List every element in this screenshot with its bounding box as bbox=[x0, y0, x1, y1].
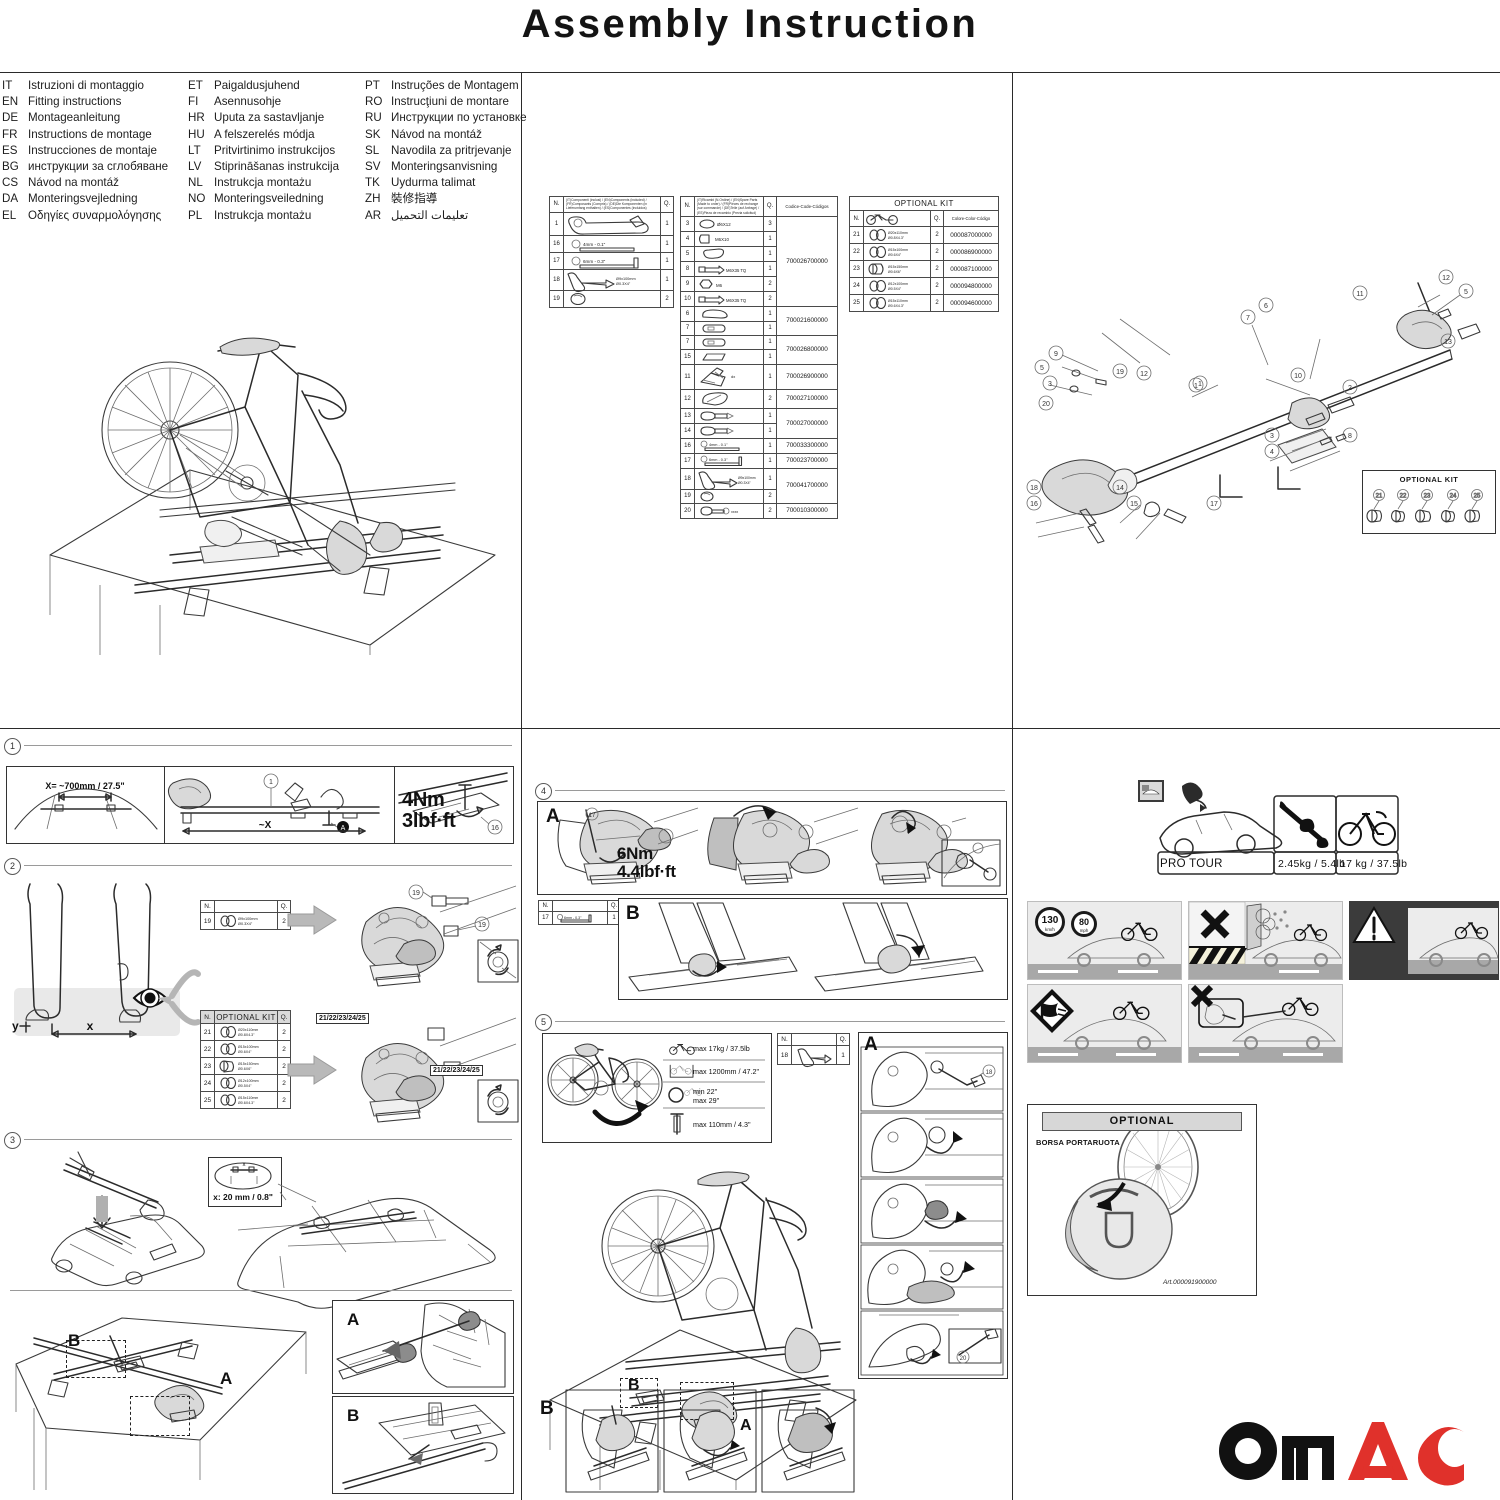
part-image bbox=[695, 423, 764, 438]
part-image: M6 bbox=[695, 276, 764, 291]
product-model-label: PRO TOUR bbox=[1160, 858, 1223, 870]
step5-detail-column-a: 18 bbox=[858, 1032, 1008, 1379]
svg-text:21: 21 bbox=[1376, 494, 1383, 500]
col-header-n: N. bbox=[850, 211, 864, 227]
spare-parts-table-wrapper: N. (IT)Ricambi (N.Ordine) / (EN)Spare Pa… bbox=[680, 196, 838, 519]
part-number: 1 bbox=[550, 212, 564, 235]
lang-code: ES bbox=[2, 143, 28, 159]
svg-text:1: 1 bbox=[269, 779, 273, 786]
bike-on-roof-illustration bbox=[40, 255, 500, 655]
step2-optional-kit-table-wrapper: N. OPTIONAL KIT Q. 21Ø20x110mmØ0.8X4.3"2… bbox=[200, 1010, 291, 1109]
svg-text:xxxx: xxxx bbox=[731, 510, 738, 514]
svg-text:23: 23 bbox=[1424, 494, 1431, 500]
part-image: xxxx bbox=[695, 503, 764, 518]
svg-text:x: x bbox=[243, 1162, 246, 1168]
svg-text:2: 2 bbox=[1348, 385, 1352, 392]
max-bike-weight-label: 17 kg / 37.5lb bbox=[1340, 858, 1407, 870]
part-image: Ø9x100mmØ0.3X4" bbox=[564, 269, 661, 290]
svg-text:M6X35 TQ: M6X35 TQ bbox=[726, 298, 747, 303]
part-image: Ø15x110mmØ0.6X4.3" bbox=[864, 295, 931, 312]
svg-text:4: 4 bbox=[1270, 449, 1274, 456]
divider-horizontal-top bbox=[0, 72, 1500, 73]
part-image: Ø15x150mmØ0.6X6" bbox=[864, 261, 931, 278]
step3-detail-b-box: B bbox=[332, 1396, 514, 1494]
part-number: 17 bbox=[550, 252, 564, 269]
list-item: LTPritvirtinimo instrukcijos bbox=[188, 143, 339, 159]
optional-accessory-art-no: Art.000091900000 bbox=[1163, 1279, 1217, 1286]
lang-name: Monteringsanvisning bbox=[391, 159, 497, 175]
lang-code: SK bbox=[365, 127, 391, 143]
svg-text:6mm - 0.3": 6mm - 0.3" bbox=[709, 458, 728, 462]
step5-part18-table: N.Q. 18 1 bbox=[777, 1033, 850, 1065]
part-qty: 3 bbox=[764, 216, 777, 231]
part-qty: 2 bbox=[931, 227, 944, 244]
svg-text:19: 19 bbox=[478, 922, 486, 929]
part-number: 19 bbox=[681, 489, 695, 503]
warning-no-carwash bbox=[1188, 901, 1343, 980]
col-header-q: Q. bbox=[837, 1034, 850, 1046]
svg-text:y: y bbox=[12, 1019, 19, 1033]
part-number: 19 bbox=[550, 290, 564, 307]
svg-text:Ø15x110mm: Ø15x110mm bbox=[888, 299, 908, 303]
col-header-n: N. bbox=[539, 901, 553, 912]
part-image: Ø9x100mmØ0.3X4" bbox=[695, 468, 764, 489]
step-number-5: 5 bbox=[535, 1014, 552, 1031]
part-number: 11 bbox=[681, 364, 695, 389]
svg-text:max 1200mm / 47.2": max 1200mm / 47.2" bbox=[693, 1067, 760, 1076]
svg-text:1: 1 bbox=[1198, 381, 1202, 388]
table-row: 176mm - 0.3"1700023700000 bbox=[681, 453, 838, 468]
part-number: 7 bbox=[681, 335, 695, 349]
svg-text:3: 3 bbox=[1048, 381, 1052, 388]
lang-name: Asennusohje bbox=[214, 94, 281, 110]
speed-mph-unit: mph bbox=[1080, 928, 1089, 933]
list-item: ELΟδηγίες συναρμολόγησης bbox=[2, 208, 168, 224]
optional-accessory-title: OPTIONAL bbox=[1042, 1112, 1242, 1131]
step5-part18-table-wrapper: N.Q. 18 1 bbox=[777, 1033, 850, 1065]
step2-kit-tag-right: 21/22/23/24/25 bbox=[430, 1065, 483, 1076]
step3-roof-detail-figure bbox=[228, 1186, 508, 1296]
step1-torque-value: 4Nm 3lbf·ft bbox=[402, 790, 455, 832]
lang-name: Pritvirtinimo instrukcijos bbox=[214, 143, 335, 159]
table-row: 71700026800000 bbox=[681, 335, 838, 349]
lang-code: RO bbox=[365, 94, 391, 110]
step3-detail-leader bbox=[278, 1180, 338, 1216]
part-image bbox=[695, 349, 764, 364]
table-row: 18 1 bbox=[778, 1046, 850, 1065]
part-image: 4mm - 0.1" bbox=[564, 235, 661, 252]
step3-callout-b-dashbox bbox=[66, 1340, 126, 1378]
part-image bbox=[695, 306, 764, 321]
part-qty: 1 bbox=[764, 231, 777, 246]
step5-marker-b: B bbox=[540, 1398, 554, 1420]
part-qty: 1 bbox=[764, 453, 777, 468]
list-item: SKNávod na montáž bbox=[365, 127, 527, 143]
svg-text:x: x bbox=[87, 1019, 94, 1033]
lang-code: ET bbox=[188, 78, 214, 94]
svg-text:Ø0.3X4": Ø0.3X4" bbox=[238, 922, 253, 926]
lang-name: Monteringsvejledning bbox=[28, 191, 138, 207]
part-image: 4mm - 0.1" bbox=[695, 438, 764, 453]
svg-text:M6X35 TQ: M6X35 TQ bbox=[726, 268, 747, 273]
lang-name: Stiprināšanas instrukcija bbox=[214, 159, 339, 175]
part-qty: 1 bbox=[764, 335, 777, 349]
lang-code: LT bbox=[188, 143, 214, 159]
part-qty: 1 bbox=[764, 468, 777, 489]
part-code: 000094600000 bbox=[944, 295, 999, 312]
svg-text:Ø15x150mm: Ø15x150mm bbox=[238, 1062, 259, 1066]
part-qty: 2 bbox=[931, 295, 944, 312]
lang-code: TK bbox=[365, 175, 391, 191]
col-header-n: N. bbox=[681, 197, 695, 217]
part-image: 6mm - 0.3" bbox=[695, 453, 764, 468]
lang-code: LV bbox=[188, 159, 214, 175]
lang-code: NO bbox=[188, 191, 214, 207]
lang-code: IT bbox=[2, 78, 28, 94]
part-image bbox=[564, 290, 661, 307]
col-header-n: N. bbox=[201, 901, 215, 913]
part-number: 21 bbox=[850, 227, 864, 244]
svg-text:16: 16 bbox=[491, 825, 499, 832]
svg-text:13: 13 bbox=[1444, 339, 1452, 346]
part-qty: 2 bbox=[764, 276, 777, 291]
col-header-code: Colore-Color-Código bbox=[944, 211, 999, 227]
brand-name: OMAC bbox=[1216, 1418, 1219, 1421]
lang-code: DA bbox=[2, 191, 28, 207]
svg-text:max 17kg / 37.5lb: max 17kg / 37.5lb bbox=[693, 1044, 750, 1053]
svg-text:25: 25 bbox=[1474, 494, 1481, 500]
svg-text:Ø0.5X4": Ø0.5X4" bbox=[888, 287, 902, 291]
lang-name: تعليمات التحميل bbox=[391, 208, 468, 224]
step1-figure-b: 1 A ~X bbox=[164, 766, 396, 844]
lang-name: Návod na montáž bbox=[391, 127, 482, 143]
lang-code: HR bbox=[188, 110, 214, 126]
svg-text:6: 6 bbox=[1264, 303, 1268, 310]
svg-text:Ø0.6X4": Ø0.6X4" bbox=[238, 1050, 252, 1054]
part-number: 16 bbox=[681, 438, 695, 453]
table-row: 22Ø15x100mmØ0.6X4"2 bbox=[201, 1041, 291, 1058]
part-qty: 1 bbox=[661, 212, 674, 235]
svg-text:max 110mm / 4.3": max 110mm / 4.3" bbox=[693, 1120, 751, 1129]
warning-crosswind bbox=[1027, 984, 1182, 1063]
part-qty: 1 bbox=[764, 306, 777, 321]
lang-name: A felszerelés módja bbox=[214, 127, 315, 143]
list-item: ESInstrucciones de montaje bbox=[2, 143, 168, 159]
lang-code: PT bbox=[365, 78, 391, 94]
lang-name: Uydurma talimat bbox=[391, 175, 475, 191]
part-code: 000087100000 bbox=[944, 261, 999, 278]
optional-kit-exploded-box: OPTIONAL KIT 21 22 23 24 25 bbox=[1362, 470, 1496, 534]
lang-code: FI bbox=[188, 94, 214, 110]
step2-optional-kit-title: OPTIONAL KIT bbox=[215, 1011, 278, 1024]
part-qty: 1 bbox=[764, 408, 777, 423]
svg-text:Ø20x110mm: Ø20x110mm bbox=[888, 231, 908, 235]
part-qty: 2 bbox=[931, 278, 944, 295]
part-qty: 1 bbox=[764, 321, 777, 335]
part-number: 21 bbox=[201, 1024, 215, 1041]
divider-vertical-right bbox=[1012, 72, 1013, 1500]
part-number: 13 bbox=[681, 408, 695, 423]
svg-text:Ø0.6X4.3": Ø0.6X4.3" bbox=[888, 304, 905, 308]
table-row: 18Ø9x100mmØ0.3X4"1700041700000 bbox=[681, 468, 838, 489]
svg-text:20: 20 bbox=[1042, 401, 1050, 408]
step2-kit-tag-top: 21/22/23/24/25 bbox=[316, 1013, 369, 1024]
list-item: ENFitting instructions bbox=[2, 94, 168, 110]
language-column-2: ETPaigaldusjuhend FIAsennusohje HRUputa … bbox=[188, 78, 339, 224]
list-item: ZH裝修指導 bbox=[365, 191, 527, 207]
part-number: 23 bbox=[201, 1058, 215, 1075]
table-row: 24 Ø12x100mmØ0.5X4" 2000094800000 bbox=[850, 278, 999, 295]
step4-part17-table-wrapper: N.Q. 17 6mm - 0.3" 1 bbox=[538, 900, 621, 925]
step1-figure-a: X= ~700mm / 27.5" bbox=[6, 766, 166, 844]
table-row: 19 Ø9x100mmØ0.3X4" 2 bbox=[201, 913, 291, 930]
lang-code: SL bbox=[365, 143, 391, 159]
svg-text:4mm - 0.1": 4mm - 0.1" bbox=[583, 242, 606, 247]
language-list: ITIstruzioni di montaggio ENFitting inst… bbox=[0, 78, 520, 238]
step-rule-4 bbox=[555, 790, 1005, 791]
part-qty: 1 bbox=[764, 349, 777, 364]
part-number: 17 bbox=[539, 912, 553, 925]
speed-mph-value: 80 bbox=[1079, 917, 1089, 927]
warning-speed-limit: 130 km/h 80 mph bbox=[1027, 901, 1182, 980]
step-rule-1 bbox=[24, 745, 512, 746]
part-code: 700033300000 bbox=[777, 438, 838, 453]
lang-name: Οδηγίες συναρμολόγησης bbox=[28, 208, 161, 224]
svg-text:X= ~700mm / 27.5": X= ~700mm / 27.5" bbox=[45, 781, 124, 791]
svg-text:~X: ~X bbox=[259, 820, 272, 831]
col-header-n: N. bbox=[778, 1034, 792, 1046]
list-item: ROInstrucţiuni de montare bbox=[365, 94, 527, 110]
lang-code: RU bbox=[365, 110, 391, 126]
language-column-1: ITIstruzioni di montaggio ENFitting inst… bbox=[2, 78, 168, 224]
col-header-code: Codice-Code-Códigos bbox=[777, 197, 838, 217]
list-item: SVMonteringsanvisning bbox=[365, 159, 527, 175]
torque-nm: 4Nm bbox=[402, 789, 444, 811]
table-row: 20xxxx2700010300000 bbox=[681, 503, 838, 518]
lang-name: Montageanleitung bbox=[28, 110, 120, 126]
svg-text:Ø0.6X4.3": Ø0.6X4.3" bbox=[238, 1101, 255, 1105]
table-row: 61700021600000 bbox=[681, 306, 838, 321]
part-number: 4 bbox=[681, 231, 695, 246]
part-number: 6 bbox=[681, 306, 695, 321]
svg-text:22: 22 bbox=[1400, 494, 1407, 500]
table-row: 21 Ø20x110mmØ0.8X4.3" 2000087000000 bbox=[850, 227, 999, 244]
svg-text:Ø0.3X4": Ø0.3X4" bbox=[738, 481, 751, 485]
list-item: TKUydurma talimat bbox=[365, 175, 527, 191]
svg-text:Ø12x100mm: Ø12x100mm bbox=[238, 1079, 259, 1083]
list-item: PTInstruções de Montagem bbox=[365, 78, 527, 94]
part-code: 700026900000 bbox=[777, 364, 838, 389]
svg-text:min 22": min 22" bbox=[693, 1087, 718, 1096]
part-image: 6mm - 0.3" bbox=[553, 912, 608, 925]
torque-lbf: 3lbf·ft bbox=[402, 810, 455, 832]
col-header-q: Q. bbox=[278, 1011, 291, 1024]
svg-text:5: 5 bbox=[1040, 365, 1044, 372]
svg-text:6mm - 0.3": 6mm - 0.3" bbox=[583, 259, 606, 264]
part-code: 700021600000 bbox=[777, 306, 838, 335]
svg-text:Ø9x100mm: Ø9x100mm bbox=[738, 476, 756, 480]
brand-logo: OMAC bbox=[1216, 1420, 1478, 1482]
list-item: HRUputa za sastavljanje bbox=[188, 110, 339, 126]
step4-panel-b bbox=[618, 898, 1008, 1000]
language-column-3: PTInstruções de Montagem ROInstrucţiuni … bbox=[365, 78, 527, 224]
table-row: 164mm - 0.1"1700033300000 bbox=[681, 438, 838, 453]
list-item: CSNávod na montáž bbox=[2, 175, 168, 191]
svg-text:4mm - 0.1": 4mm - 0.1" bbox=[709, 443, 728, 447]
part-number: 7 bbox=[681, 321, 695, 335]
part-code: 000087000000 bbox=[944, 227, 999, 244]
svg-text:dx: dx bbox=[731, 374, 735, 379]
part-qty: 2 bbox=[764, 389, 777, 408]
list-item: ARتعليمات التحميل bbox=[365, 208, 527, 224]
lang-code: FR bbox=[2, 127, 28, 143]
svg-text:Ø0.6X4": Ø0.6X4" bbox=[888, 253, 902, 257]
part-code: 700027100000 bbox=[777, 389, 838, 408]
part-number: 22 bbox=[201, 1041, 215, 1058]
svg-text:Ø0.5X4": Ø0.5X4" bbox=[238, 1084, 252, 1088]
step2-part19-table: N.Q. 19 Ø9x100mmØ0.3X4" 2 bbox=[200, 900, 291, 930]
lang-code: ZH bbox=[365, 191, 391, 207]
table-row: 19 2 bbox=[550, 290, 674, 307]
list-item: SLNavodila za pritrjevanje bbox=[365, 143, 527, 159]
part-qty: 2 bbox=[764, 489, 777, 503]
step2-clamp-figure-top: 19 19 bbox=[340, 882, 520, 990]
svg-text:Ø9x100mm: Ø9x100mm bbox=[238, 917, 258, 921]
lang-name: Instrucţiuni de montare bbox=[391, 94, 509, 110]
list-item: RUИнструкции по установке bbox=[365, 110, 527, 126]
lang-name: Instrukcja montażu bbox=[214, 208, 311, 224]
part-image: dx bbox=[695, 364, 764, 389]
svg-text:24: 24 bbox=[1450, 494, 1457, 500]
part-image bbox=[695, 408, 764, 423]
table-row: 23 Ø15x150mmØ0.6X6" 2000087100000 bbox=[850, 261, 999, 278]
svg-text:9: 9 bbox=[1054, 351, 1058, 358]
components-table-wrapper: N. (IT)Componenti (inclusi) / (EN)Compon… bbox=[549, 196, 674, 308]
svg-text:12: 12 bbox=[1140, 371, 1148, 378]
part-qty: 1 bbox=[661, 235, 674, 252]
svg-text:Ø0.3X4": Ø0.3X4" bbox=[616, 282, 631, 286]
table-row: 131700027000000 bbox=[681, 408, 838, 423]
svg-text:Ø0.6X6": Ø0.6X6" bbox=[888, 270, 902, 274]
part-image bbox=[695, 489, 764, 503]
step-rule-5 bbox=[555, 1021, 1005, 1022]
svg-text:16: 16 bbox=[1030, 501, 1038, 508]
svg-text:14: 14 bbox=[1116, 485, 1124, 492]
part-number: 25 bbox=[201, 1092, 215, 1109]
lang-name: Paigaldusjuhend bbox=[214, 78, 300, 94]
step3-sub-rule bbox=[10, 1290, 512, 1291]
svg-text:Ø12x100mm: Ø12x100mm bbox=[888, 282, 908, 286]
list-item: LVStiprināšanas instrukcija bbox=[188, 159, 339, 175]
lang-code: EL bbox=[2, 208, 28, 224]
part-number: 9 bbox=[681, 276, 695, 291]
divider-vertical-left bbox=[521, 72, 522, 1500]
step3-detail-a-box: A bbox=[332, 1300, 514, 1394]
warning-caution bbox=[1349, 901, 1499, 980]
part-number: 10 bbox=[681, 291, 695, 306]
part-code: 700010300000 bbox=[777, 503, 838, 518]
part-number: 25 bbox=[850, 295, 864, 312]
lang-name: Инструкции по установке bbox=[391, 110, 527, 126]
table-row: 16 4mm - 0.1" 1 bbox=[550, 235, 674, 252]
part-qty: 2 bbox=[764, 503, 777, 518]
part-qty: 1 bbox=[661, 269, 674, 290]
part-image: Ø15x150mmØ0.6X6" bbox=[215, 1058, 278, 1075]
part-number: 18 bbox=[550, 269, 564, 290]
step-number-4: 4 bbox=[535, 783, 552, 800]
inspect-eye-icon bbox=[128, 970, 198, 1030]
svg-text:20: 20 bbox=[960, 1356, 967, 1362]
svg-text:Ø0.8X4.3": Ø0.8X4.3" bbox=[888, 236, 905, 240]
svg-text:A: A bbox=[220, 1369, 232, 1388]
svg-text:Ø15x110mm: Ø15x110mm bbox=[238, 1096, 258, 1100]
table-row: 17 6mm - 0.3" 1 bbox=[550, 252, 674, 269]
part-number: 22 bbox=[850, 244, 864, 261]
lang-code: NL bbox=[188, 175, 214, 191]
part-number: 18 bbox=[681, 468, 695, 489]
part-qty: 1 bbox=[764, 246, 777, 261]
list-item: NOMonteringsveiledning bbox=[188, 191, 339, 207]
part-qty: 2 bbox=[931, 261, 944, 278]
step3-car-mount-figure bbox=[30, 1148, 210, 1288]
part-code: 700041700000 bbox=[777, 468, 838, 503]
svg-text:Ø15x150mm: Ø15x150mm bbox=[888, 265, 908, 269]
part-qty: 1 bbox=[764, 438, 777, 453]
list-item: FRInstructions de montage bbox=[2, 127, 168, 143]
instruction-sheet: Assembly Instruction ITIstruzioni di mon… bbox=[0, 0, 1500, 1500]
part-number: 17 bbox=[681, 453, 695, 468]
part-number: 12 bbox=[681, 389, 695, 408]
table-row: 22 Ø15x100mmØ0.6X4" 2000086900000 bbox=[850, 244, 999, 261]
list-item: BGинструкции за сглобяване bbox=[2, 159, 168, 175]
svg-text:7: 7 bbox=[1246, 315, 1250, 322]
svg-text:6mm - 0.3": 6mm - 0.3" bbox=[564, 916, 582, 920]
list-item: ITIstruzioni di montaggio bbox=[2, 78, 168, 94]
part-image: Ø15x110mmØ0.6X4.3" bbox=[215, 1092, 278, 1109]
table-row: 24Ø12x100mmØ0.5X4"2 bbox=[201, 1075, 291, 1092]
part-code: 700026800000 bbox=[777, 335, 838, 364]
part-image: M6X35 TQ bbox=[695, 261, 764, 276]
table-row: 3Ø6X123700026700000 bbox=[681, 216, 838, 231]
part-image bbox=[695, 321, 764, 335]
step4-torque-value: 6Nm 4.4lbf·ft bbox=[617, 845, 676, 881]
part-image bbox=[695, 389, 764, 408]
part-code: 000094800000 bbox=[944, 278, 999, 295]
speed-kmh-unit: km/h bbox=[1045, 927, 1055, 932]
lang-name: Instructions de montage bbox=[28, 127, 152, 143]
page-title: Assembly Instruction bbox=[0, 2, 1500, 47]
list-item: ETPaigaldusjuhend bbox=[188, 78, 339, 94]
col-header-n: N. bbox=[201, 1011, 215, 1024]
lang-name: Uputa za sastavljanje bbox=[214, 110, 324, 126]
lang-name: Instrucciones de montaje bbox=[28, 143, 157, 159]
part-image: 6mm - 0.3" bbox=[564, 252, 661, 269]
lang-code: BG bbox=[2, 159, 28, 175]
svg-text:19: 19 bbox=[412, 890, 420, 897]
part-qty: 2 bbox=[931, 244, 944, 261]
components-table: N. (IT)Componenti (inclusi) / (EN)Compon… bbox=[549, 196, 674, 308]
part-image: M6X10 bbox=[695, 231, 764, 246]
part-qty: 2 bbox=[661, 290, 674, 307]
part-image: Ø20x110mmØ0.8X4.3" bbox=[864, 227, 931, 244]
part-qty: 1 bbox=[764, 364, 777, 389]
part-number: 15 bbox=[681, 349, 695, 364]
bike-icon bbox=[864, 211, 931, 227]
part-number: 20 bbox=[681, 503, 695, 518]
step5-marker-a: A bbox=[864, 1034, 878, 1056]
torque-nm: 6Nm bbox=[617, 844, 653, 863]
part-image: Ø15x100mmØ0.6X4" bbox=[215, 1041, 278, 1058]
